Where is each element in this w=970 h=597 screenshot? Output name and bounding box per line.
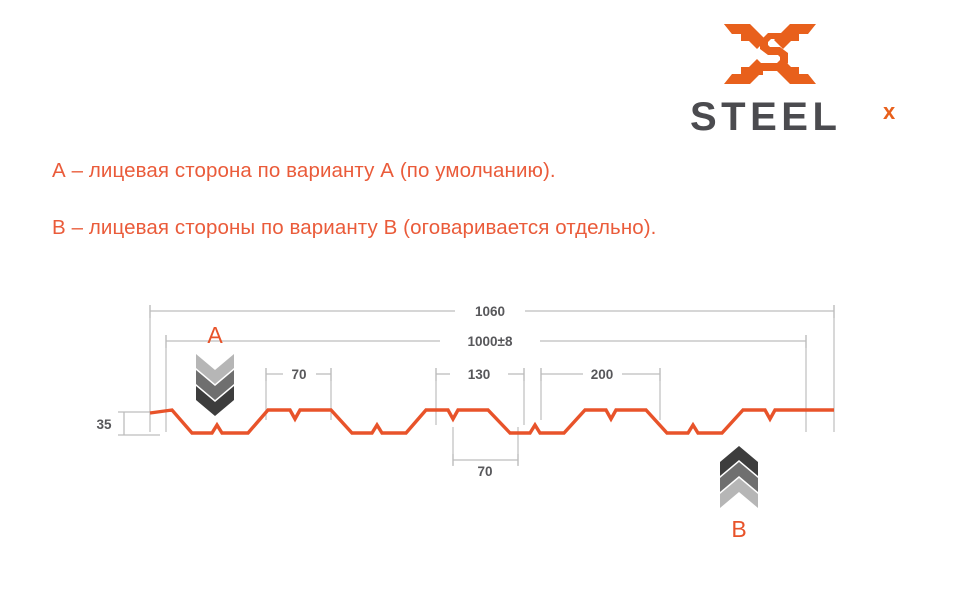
marker-a: А bbox=[196, 322, 234, 416]
trapezoid-profile-line bbox=[150, 410, 834, 433]
wordmark-superscript: x bbox=[883, 99, 896, 124]
brand-logo: STEEL x bbox=[690, 18, 910, 143]
marker-b: В bbox=[720, 446, 758, 542]
note-variant-b: В – лицевая стороны по варианту В (огова… bbox=[52, 216, 656, 240]
marker-b-letter: В bbox=[731, 516, 746, 542]
crest-width-label: 70 bbox=[291, 367, 306, 382]
marker-a-letter: А bbox=[207, 322, 223, 348]
note-variant-a: А – лицевая сторона по варианту А (по ум… bbox=[52, 159, 556, 183]
profile-drawing-svg: 1060 1000±8 70 130 200 70 35 А В bbox=[0, 280, 970, 560]
wordmark-text: STEEL bbox=[690, 95, 841, 139]
valley-width-label: 70 bbox=[477, 464, 492, 479]
cover-width-label: 1000±8 bbox=[468, 334, 513, 349]
rib-pitch-label: 200 bbox=[591, 367, 614, 382]
steelx-wordmark: STEEL x bbox=[690, 94, 910, 140]
profile-drawing: 1060 1000±8 70 130 200 70 35 А В bbox=[0, 280, 970, 560]
steelx-x-logo-icon bbox=[722, 18, 818, 90]
pitch-segment-label: 130 bbox=[468, 367, 491, 382]
profile-height-label: 35 bbox=[96, 417, 112, 432]
overall-width-label: 1060 bbox=[475, 304, 505, 319]
dimension-ticks bbox=[150, 305, 834, 466]
